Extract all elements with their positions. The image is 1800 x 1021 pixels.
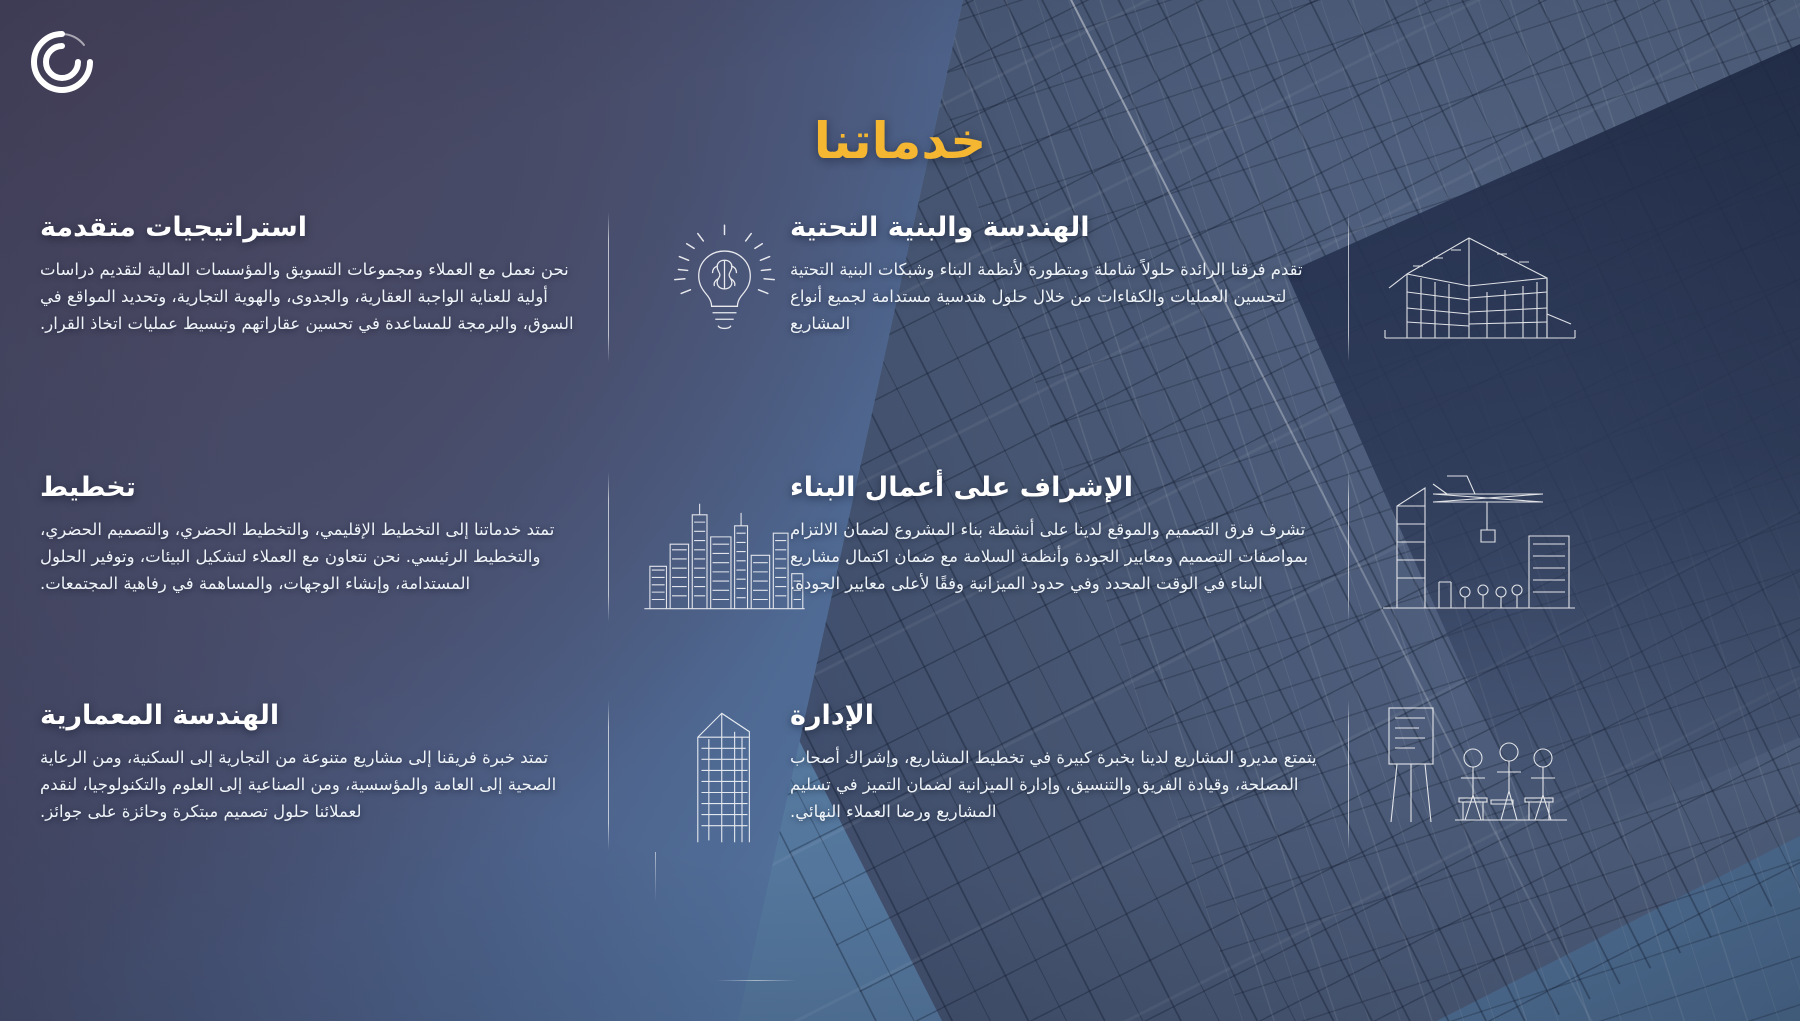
service-divider — [608, 212, 609, 362]
decorative-horizontal-line — [716, 980, 796, 981]
service-text: الإشراف على أعمال البناء تشرف فرق التصمي… — [790, 472, 1320, 598]
steel-structure-icon — [1377, 212, 1582, 362]
service-divider — [1348, 472, 1349, 622]
service-item-construction-supervision[interactable]: الإشراف على أعمال البناء تشرف فرق التصمي… — [790, 472, 1582, 622]
service-item-architecture[interactable]: الهندسة المعمارية تمتد خبرة فريقنا إلى م… — [40, 700, 812, 850]
service-body: تشرف فرق التصميم والموقع لدينا على أنشطة… — [790, 517, 1320, 597]
service-text: الهندسة المعمارية تمتد خبرة فريقنا إلى م… — [40, 700, 580, 826]
service-body: يتمتع مديرو المشاريع لدينا بخبرة كبيرة ف… — [790, 745, 1320, 825]
service-item-planning[interactable]: تخطيط تمتد خدماتنا إلى التخطيط الإقليمي،… — [40, 472, 812, 622]
service-text: تخطيط تمتد خدماتنا إلى التخطيط الإقليمي،… — [40, 472, 580, 598]
service-divider — [1348, 700, 1349, 850]
service-text: الهندسة والبنية التحتية تقدم فرقنا الرائ… — [790, 212, 1320, 338]
service-divider — [608, 472, 609, 622]
service-body: نحن نعمل مع العملاء ومجموعات التسويق وال… — [40, 257, 580, 337]
service-divider — [1348, 212, 1349, 362]
service-body: تقدم فرقنا الرائدة حلولاً شاملة ومتطورة … — [790, 257, 1320, 337]
lightbulb-brain-icon — [637, 212, 812, 362]
service-body: تمتد خدماتنا إلى التخطيط الإقليمي، والتخ… — [40, 517, 580, 597]
service-heading: الإشراف على أعمال البناء — [790, 472, 1320, 504]
service-text: استراتيجيات متقدمة نحن نعمل مع العملاء و… — [40, 212, 580, 338]
crane-construction-icon — [1377, 472, 1582, 622]
service-heading: الهندسة المعمارية — [40, 700, 580, 732]
tower-building-icon — [637, 700, 812, 850]
service-text: الإدارة يتمتع مديرو المشاريع لدينا بخبرة… — [790, 700, 1320, 826]
service-heading: الهندسة والبنية التحتية — [790, 212, 1320, 244]
service-divider — [608, 700, 609, 850]
service-body: تمتد خبرة فريقنا إلى مشاريع متنوعة من ال… — [40, 745, 580, 825]
service-heading: الإدارة — [790, 700, 1320, 732]
service-item-advanced-strategies[interactable]: استراتيجيات متقدمة نحن نعمل مع العملاء و… — [40, 212, 812, 362]
team-meeting-icon — [1377, 700, 1582, 850]
service-item-management[interactable]: الإدارة يتمتع مديرو المشاريع لدينا بخبرة… — [790, 700, 1582, 850]
city-skyline-icon — [637, 472, 812, 622]
decorative-vertical-line — [655, 852, 656, 902]
service-heading: تخطيط — [40, 472, 580, 504]
service-item-engineering-infrastructure[interactable]: الهندسة والبنية التحتية تقدم فرقنا الرائ… — [790, 212, 1582, 362]
slide-canvas: خدماتنا استراتيجيات متقدمة نحن نعمل مع ا… — [0, 0, 1800, 1021]
service-heading: استراتيجيات متقدمة — [40, 212, 580, 244]
